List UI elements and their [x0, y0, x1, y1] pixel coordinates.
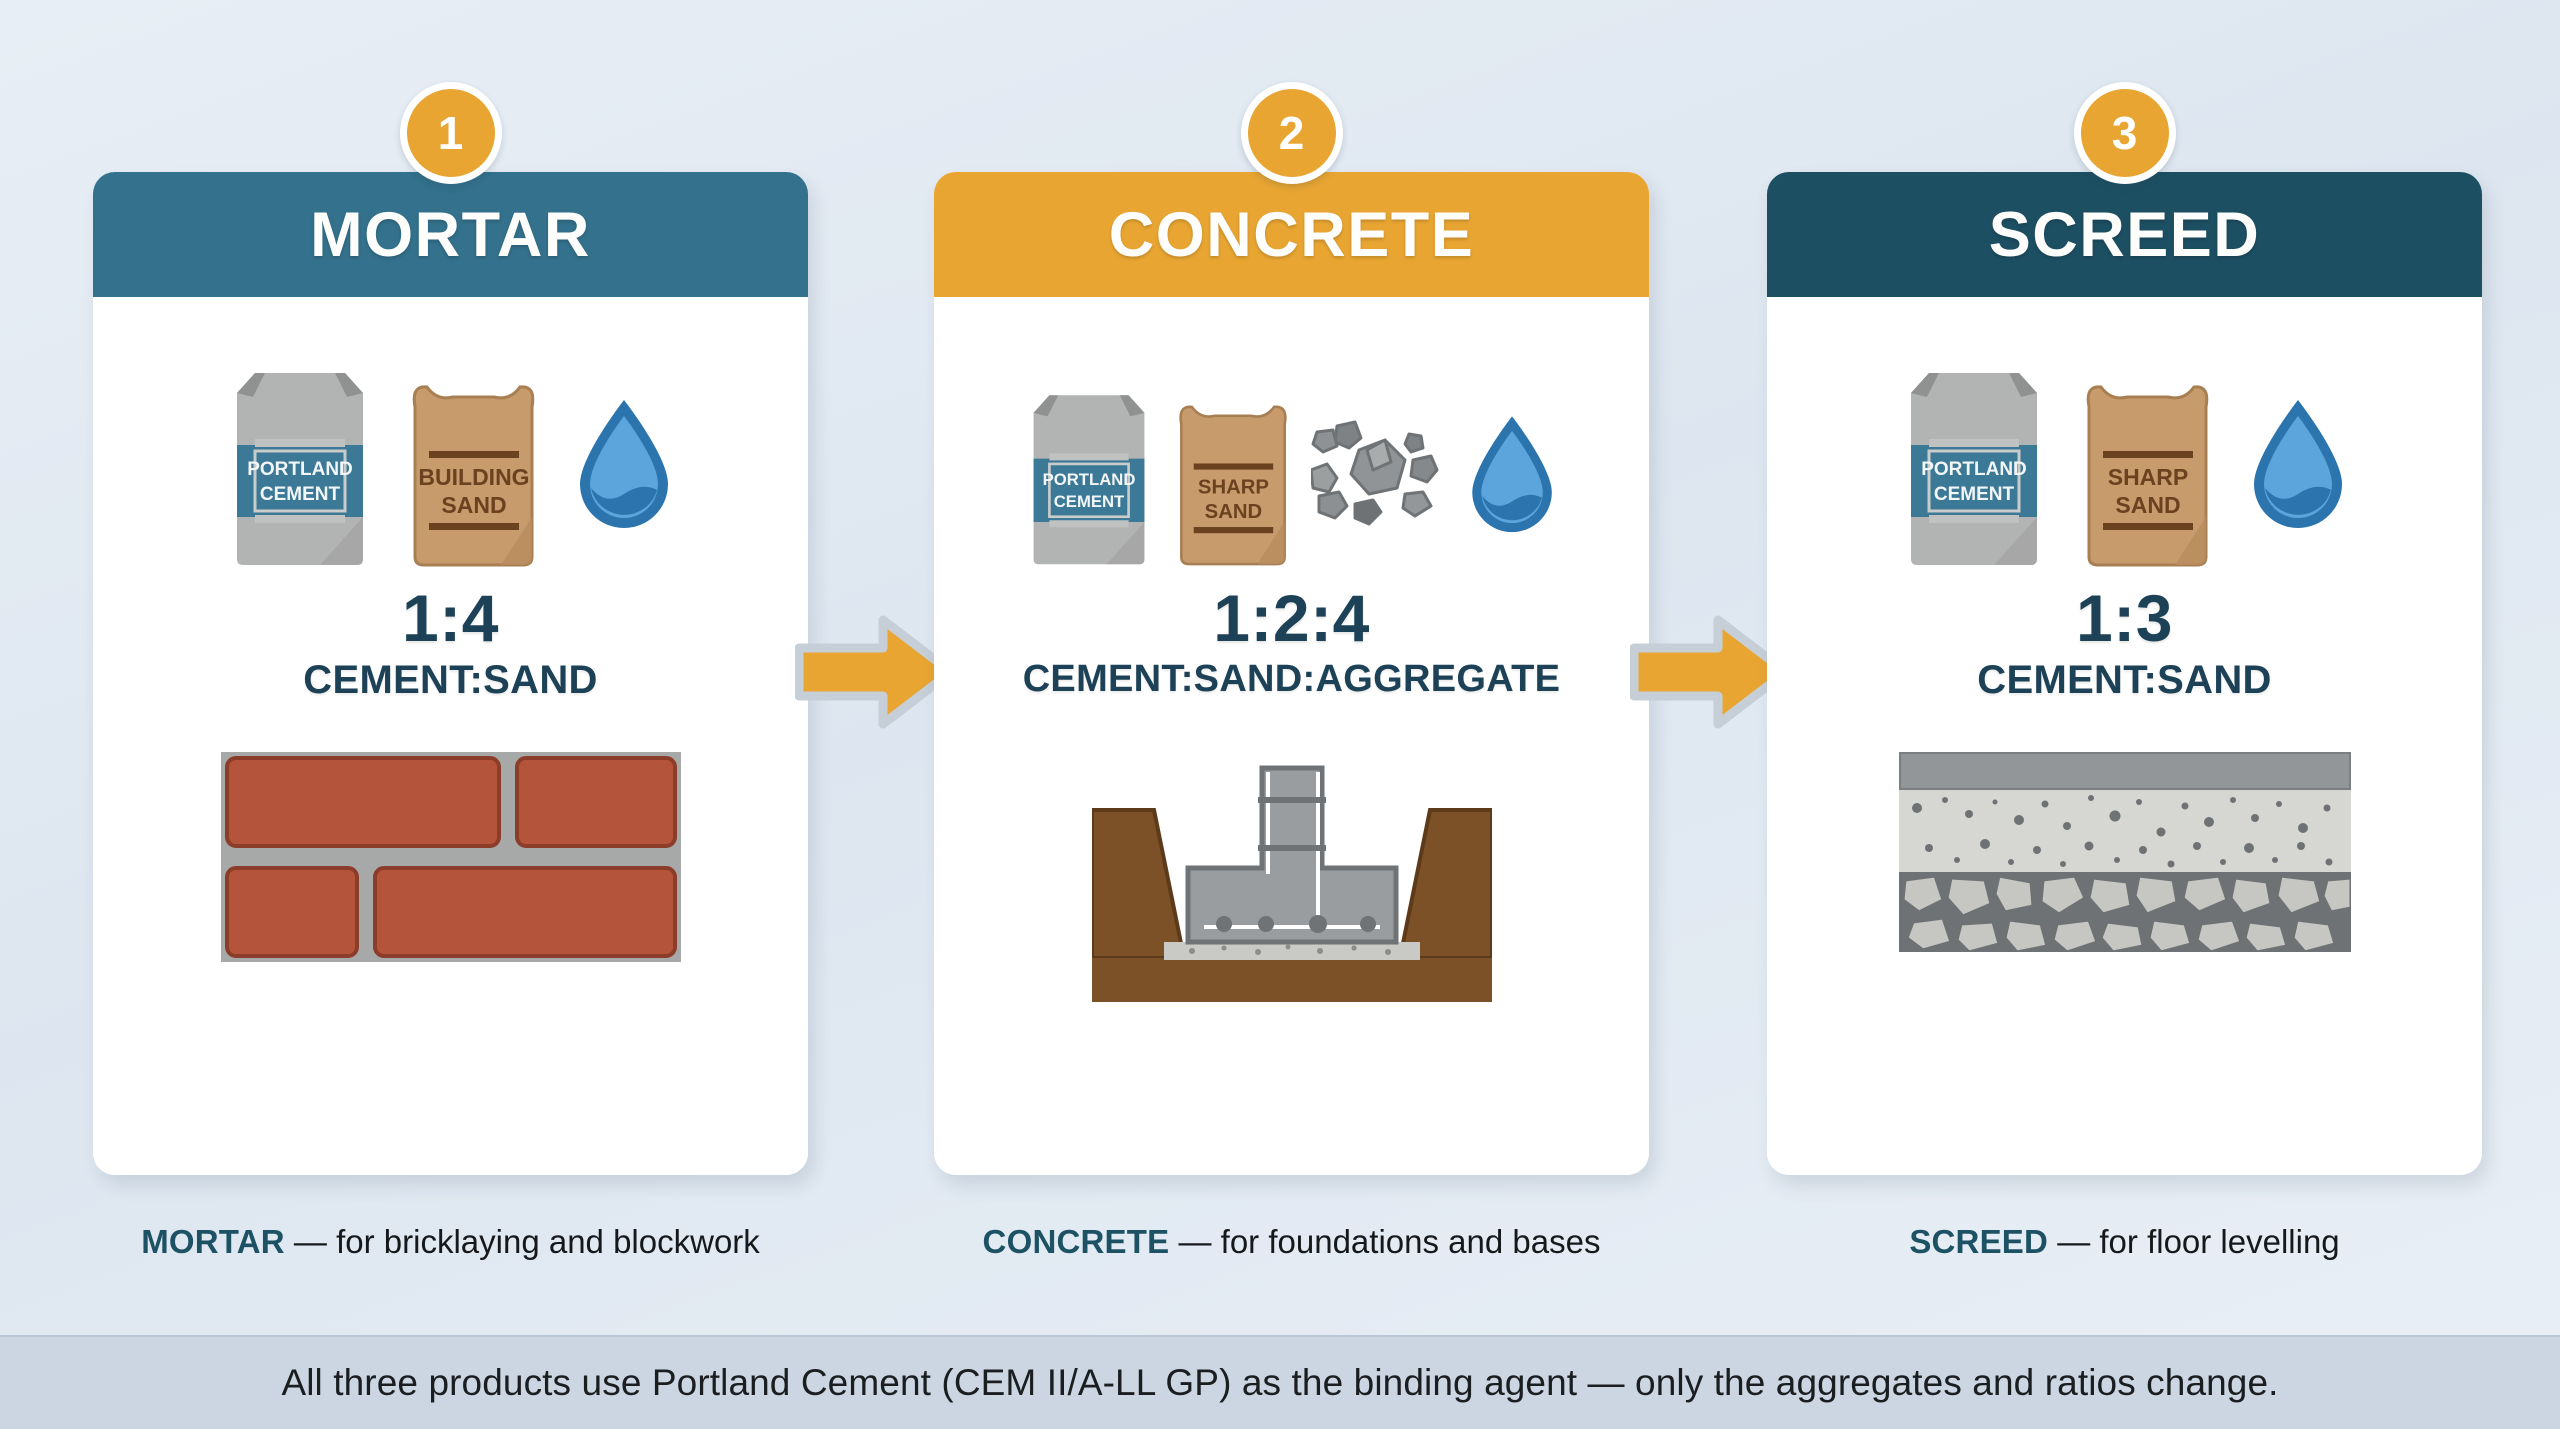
- ingredient-aggregate: [1311, 412, 1451, 567]
- cement-bag-line2: CEMENT: [1054, 492, 1125, 511]
- arrow-mortar-to-concrete: [795, 610, 955, 735]
- caption-concrete-bold: CONCRETE: [983, 1223, 1170, 1260]
- ratio-block-concrete: 1:2:4 CEMENT:SAND:AGGREGATE: [934, 585, 1649, 701]
- step-badge-2: 2: [1241, 82, 1343, 184]
- card-header-mortar: MORTAR: [93, 172, 808, 297]
- footer-note: All three products use Portland Cement (…: [281, 1362, 2278, 1404]
- infographic-stage: 1 MORTAR PORTLAND: [0, 0, 2560, 1429]
- ingredient-sharp-sand: SHARP SAND: [2075, 377, 2220, 567]
- ratio-block-mortar: 1:4 CEMENT:SAND: [93, 585, 808, 703]
- ratio-number-mortar: 1:4: [93, 585, 808, 652]
- ingredient-water: [1465, 411, 1560, 567]
- card-body-screed: PORTLAND CEMENT SHARP SAND: [1767, 297, 2482, 1175]
- product-card-mortar[interactable]: 1 MORTAR PORTLAND: [93, 172, 808, 1175]
- sand-bag-line1: SHARP: [2107, 464, 2188, 490]
- footer-bar: All three products use Portland Cement (…: [0, 1335, 2560, 1429]
- caption-screed-bold: SCREED: [1909, 1223, 2048, 1260]
- caption-concrete-rest: — for foundations and bases: [1169, 1223, 1600, 1260]
- ingredient-building-sand: BUILDING SAND: [401, 377, 546, 567]
- ratio-block-screed: 1:3 CEMENT:SAND: [1767, 585, 2482, 703]
- ratio-label-mortar: CEMENT:SAND: [93, 658, 808, 703]
- caption-mortar-rest: — for bricklaying and blockwork: [285, 1223, 760, 1260]
- arrow-concrete-to-screed: [1630, 610, 1790, 735]
- card-body-concrete: PORTLAND CEMENT SHARP SAND: [934, 297, 1649, 1175]
- ratio-label-screed: CEMENT:SAND: [1767, 658, 2482, 703]
- ingredient-portland-cement: PORTLAND CEMENT: [225, 367, 375, 567]
- cement-bag-line1: PORTLAND: [1921, 459, 2027, 480]
- ingredients-row-mortar: PORTLAND CEMENT BUILDING SAND: [93, 352, 808, 567]
- caption-screed: SCREED — for floor levelling: [1767, 1223, 2482, 1261]
- ingredient-portland-cement: PORTLAND CEMENT: [1023, 389, 1155, 567]
- caption-concrete: CONCRETE — for foundations and bases: [934, 1223, 1649, 1261]
- product-card-concrete[interactable]: 2 CONCRETE PORTLAND CEM: [934, 172, 1649, 1175]
- card-header-screed: SCREED: [1767, 172, 2482, 297]
- cement-bag-line2: CEMENT: [1933, 484, 2014, 505]
- illustration-foundation-footing: [934, 752, 1649, 1052]
- ingredients-row-screed: PORTLAND CEMENT SHARP SAND: [1767, 352, 2482, 567]
- card-header-concrete: CONCRETE: [934, 172, 1649, 297]
- caption-mortar: MORTAR — for bricklaying and blockwork: [93, 1223, 808, 1261]
- sand-bag-line1: BUILDING: [418, 464, 529, 490]
- sand-bag-line2: SAND: [2115, 492, 2180, 518]
- illustration-brick-wall: [93, 752, 808, 1052]
- caption-screed-rest: — for floor levelling: [2048, 1223, 2340, 1260]
- sand-bag-line2: SAND: [1205, 501, 1263, 523]
- card-title-concrete: CONCRETE: [1109, 199, 1475, 271]
- card-title-mortar: MORTAR: [310, 199, 591, 271]
- card-body-mortar: PORTLAND CEMENT BUILDING SAND: [93, 297, 808, 1175]
- ratio-number-screed: 1:3: [1767, 585, 2482, 652]
- water-droplet-icon: [1465, 411, 1560, 533]
- cement-bag-line1: PORTLAND: [1043, 470, 1136, 489]
- product-card-screed[interactable]: 3 SCREED PORTLAND CEMEN: [1767, 172, 2482, 1175]
- ratio-label-concrete: CEMENT:SAND:AGGREGATE: [934, 658, 1649, 701]
- water-droplet-icon: [2246, 394, 2351, 529]
- sand-bag-line1: SHARP: [1198, 476, 1269, 498]
- ingredients-row-concrete: PORTLAND CEMENT SHARP SAND: [934, 352, 1649, 567]
- illustration-floor-screed-layers: [1767, 752, 2482, 1052]
- cement-bag-line1: PORTLAND: [247, 459, 353, 480]
- ingredient-sharp-sand: SHARP SAND: [1169, 397, 1297, 567]
- ingredient-water: [2246, 394, 2351, 567]
- ratio-number-concrete: 1:2:4: [934, 585, 1649, 652]
- aggregate-stones-icon: [1311, 412, 1451, 537]
- sand-bag-line2: SAND: [441, 492, 506, 518]
- water-droplet-icon: [572, 394, 677, 529]
- card-title-screed: SCREED: [1989, 199, 2261, 271]
- step-badge-3: 3: [2074, 82, 2176, 184]
- cement-bag-line2: CEMENT: [259, 484, 340, 505]
- caption-mortar-bold: MORTAR: [141, 1223, 285, 1260]
- ingredient-portland-cement: PORTLAND CEMENT: [1899, 367, 2049, 567]
- step-badge-1: 1: [400, 82, 502, 184]
- ingredient-water: [572, 394, 677, 567]
